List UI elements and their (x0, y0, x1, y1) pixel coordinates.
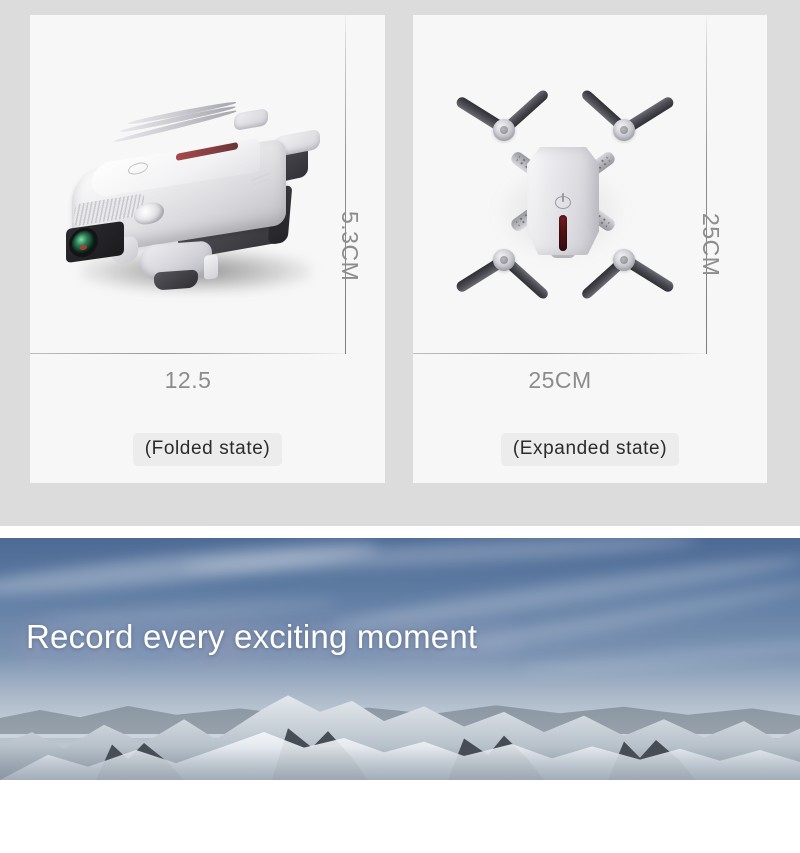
drone-folded-icon (58, 103, 334, 333)
panel-caption: (Expanded state) (501, 433, 679, 466)
snow-shading (0, 746, 800, 780)
width-guide-line (30, 353, 346, 354)
lifestyle-banner: Record every exciting moment (0, 538, 800, 780)
height-guide-line (345, 15, 346, 354)
product-detail-page: 5.3CM 12.5 (Folded state) (0, 0, 800, 853)
motor-hub-icon (493, 249, 515, 271)
caption-container: (Expanded state) (413, 433, 767, 466)
power-button-icon (555, 193, 571, 209)
dimension-spec-section: 5.3CM 12.5 (Folded state) (0, 0, 800, 526)
mountain-range (0, 672, 800, 780)
motor-hub-icon (234, 108, 268, 131)
spec-panel-folded: 5.3CM 12.5 (Folded state) (30, 15, 385, 483)
height-dimension-label: 25CM (697, 213, 724, 276)
led-indicator-strip (559, 215, 567, 251)
width-dimension-label: 12.5 (30, 367, 346, 394)
height-guide-line (706, 15, 707, 354)
bottom-whitespace (0, 780, 800, 853)
drone-leg-pin (204, 254, 218, 279)
width-guide-line (413, 353, 707, 354)
caption-container: (Folded state) (30, 433, 385, 466)
spec-panel-expanded: 25CM 25CM (Expanded state) (413, 15, 767, 483)
motor-hub-icon (613, 249, 635, 271)
panel-caption: (Folded state) (133, 433, 283, 466)
motor-hub-icon (613, 119, 635, 141)
drone-expanded-top-icon (443, 63, 681, 331)
banner-headline: Record every exciting moment (26, 618, 666, 656)
width-dimension-label: 25CM (413, 367, 707, 394)
height-dimension-label: 5.3CM (336, 211, 363, 281)
motor-hub-icon (493, 119, 515, 141)
